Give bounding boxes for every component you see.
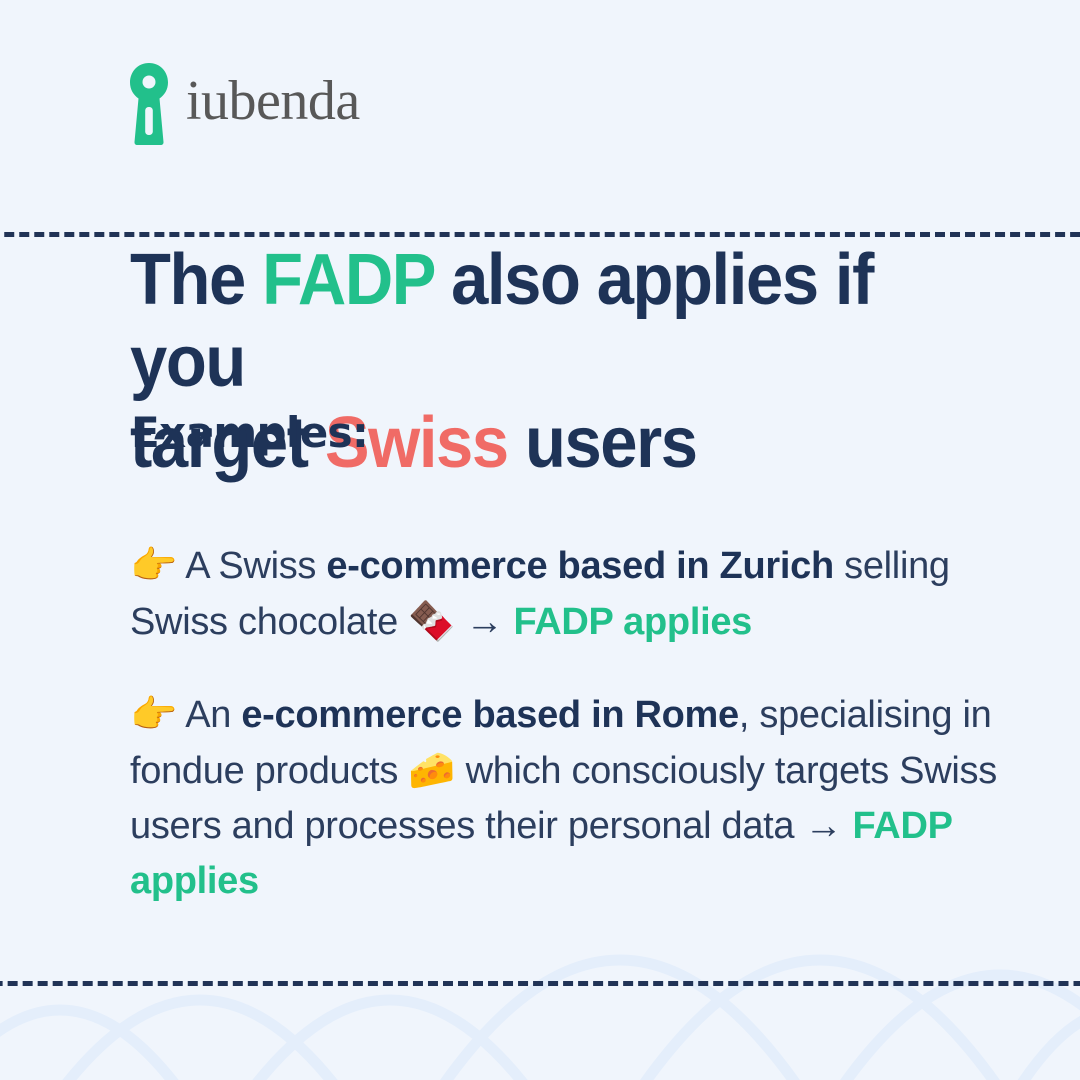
bullet-segment-result: FADP applies (513, 601, 752, 643)
headline-highlight-fadp: FADP (262, 240, 434, 320)
pointing-right-emoji: 👉 (130, 692, 177, 736)
iubenda-wordmark: iubenda (186, 73, 360, 135)
headline-text-1: The (130, 240, 262, 320)
right-arrow-icon: → (455, 601, 513, 643)
iubenda-keyhole-logo (128, 62, 170, 146)
chocolate-bar-emoji: 🍫 (408, 599, 455, 643)
bullet-segment-strong: e-commerce based in Rome (241, 694, 739, 736)
bullet-segment: An (185, 694, 241, 736)
bullet-segment-strong: e-commerce based in Zurich (326, 545, 833, 587)
pointing-right-emoji: 👉 (130, 543, 177, 587)
cheese-wedge-emoji: 🧀 (408, 748, 455, 792)
list-item: 👉 An e-commerce based in Rome, specialis… (130, 687, 1030, 908)
list-item: 👉 A Swiss e-commerce based in Zurich sel… (130, 538, 1030, 649)
examples-list: 👉 A Swiss e-commerce based in Zurich sel… (130, 500, 1030, 908)
examples-heading: Examples: (131, 412, 368, 454)
bullet-segment: A Swiss (185, 545, 326, 587)
right-arrow-icon: → (805, 805, 853, 847)
headline-text-4: users (508, 403, 697, 483)
infographic-card: iubenda The FADP also applies if you tar… (0, 0, 1080, 1080)
iubenda-logo[interactable]: iubenda (128, 62, 360, 146)
